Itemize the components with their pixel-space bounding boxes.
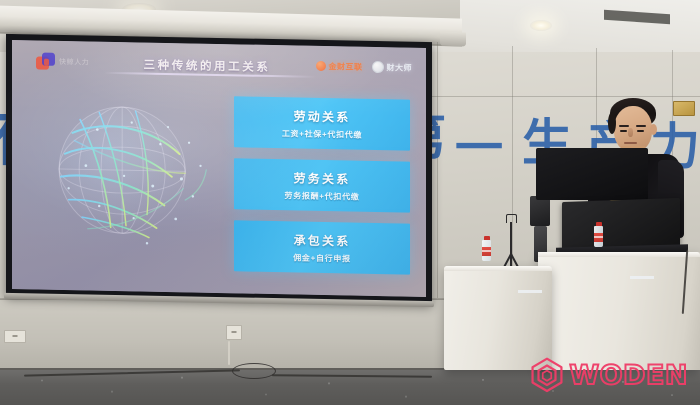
relationship-box[interactable]: 劳动关系 工资+社保+代扣代缴	[234, 96, 410, 150]
speaker-box	[530, 196, 550, 226]
screen-roller-end-cap	[440, 32, 466, 47]
projection-screen-surface: 快鲸人力 三种传统的用工关系 金财互联 财大师	[12, 40, 426, 297]
watermark: WODEN	[530, 357, 688, 393]
podium	[444, 266, 552, 370]
relationship-box-title: 劳务关系	[294, 169, 351, 187]
ceiling-downlight	[530, 20, 552, 31]
monitor-back	[536, 148, 648, 200]
relationship-box-subtitle: 劳务报酬+代扣代缴	[285, 190, 360, 202]
wall-cable-drop	[228, 341, 230, 365]
slide-partner-logos: 金财互联 财大师	[316, 60, 413, 74]
relationship-box-subtitle: 佣金+自行申报	[293, 252, 351, 264]
presenter-nose	[628, 128, 633, 137]
partner-name: 金财互联	[329, 61, 363, 73]
partner-name: 财大师	[387, 62, 413, 73]
podium-top	[444, 266, 552, 271]
hexagon-cube-logo-icon	[530, 357, 564, 393]
slide-brand-name: 快鲸人力	[59, 56, 89, 67]
partner-logo-jincai: 金财互联	[316, 60, 363, 72]
partner-badge-icon	[316, 61, 326, 71]
relationship-box-title: 承包关系	[294, 231, 351, 249]
slide-brand-logo: 快鲸人力	[36, 52, 89, 70]
presenter-ear	[650, 124, 657, 135]
relationship-box-subtitle: 工资+社保+代扣代缴	[282, 128, 362, 141]
presenter-brow	[619, 125, 629, 127]
partner-logo-caidashi: 财大师	[372, 61, 413, 74]
water-bottle	[482, 236, 491, 261]
relationship-box[interactable]: 承包关系 佣金+自行申报	[234, 220, 410, 274]
presenter-hair-side	[608, 112, 616, 134]
mic-stand-pole	[510, 222, 512, 256]
presenter-table-top	[538, 252, 700, 257]
relationship-box-title: 劳动关系	[294, 107, 351, 125]
presenter-brow	[636, 125, 646, 127]
power-outlet	[226, 325, 242, 340]
partner-badge-icon	[372, 61, 384, 73]
globe-network-graphic	[40, 83, 212, 258]
relationship-box[interactable]: 劳务关系 劳务报酬+代扣代缴	[234, 158, 410, 212]
relationship-boxes: 劳动关系 工资+社保+代扣代缴 劳务关系 劳务报酬+代扣代缴 承包关系 佣金+自…	[234, 96, 410, 285]
presenter-table	[538, 252, 700, 370]
water-bottle	[594, 222, 603, 247]
watermark-text: WODEN	[569, 362, 688, 389]
company-logo-mark-icon	[36, 52, 55, 69]
laptop[interactable]	[562, 198, 680, 250]
wall-character: 一	[455, 125, 503, 173]
power-outlet	[4, 330, 26, 343]
microphone-stand[interactable]	[498, 214, 524, 272]
presentation-slide: 快鲸人力 三种传统的用工关系 金财互联 财大师	[12, 40, 426, 297]
wall-seam	[437, 42, 438, 300]
screenshot-root: 有 第 一 生 产 力 快鲸人力 三种传统的用工关系	[0, 0, 700, 405]
projection-screen: 快鲸人力 三种传统的用工关系 金财互联 财大师	[6, 34, 432, 304]
